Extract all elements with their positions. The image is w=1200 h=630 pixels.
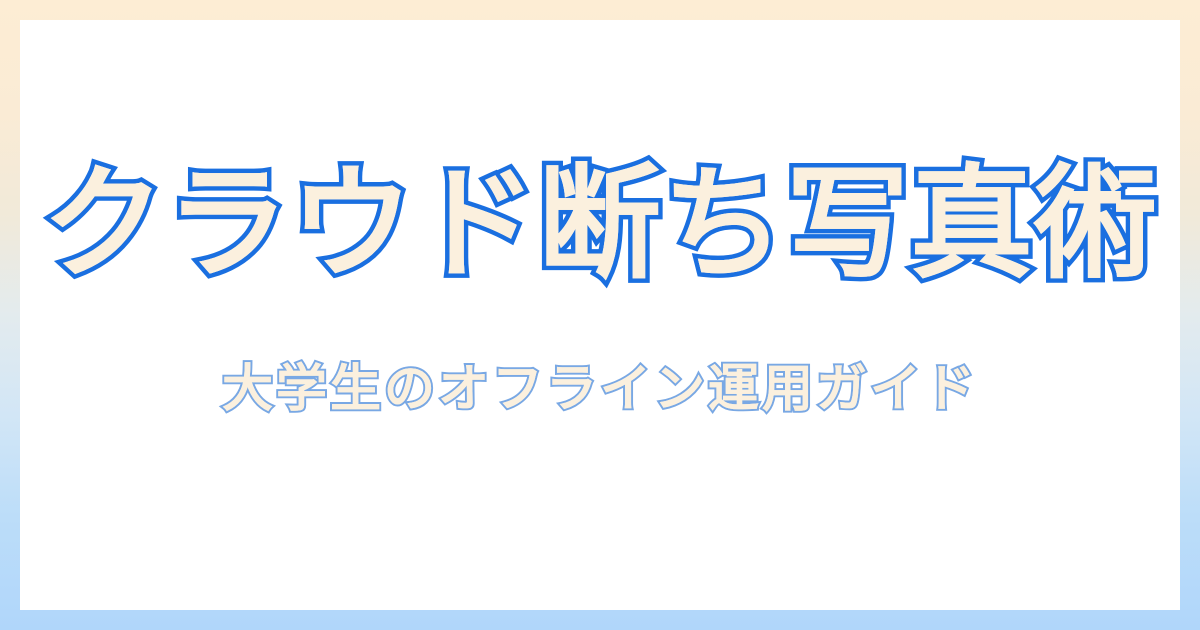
poster-subtitle-fill-layer: 大学生のオフライン運用ガイド	[20, 357, 1180, 423]
poster-title-fill-layer: クラウド断ち写真術	[20, 155, 1180, 295]
poster-inner-panel: クラウド断ち写真術 クラウド断ち写真術 大学生のオフライン運用ガイド 大学生のオ…	[20, 20, 1180, 610]
poster-subtitle: 大学生のオフライン運用ガイド 大学生のオフライン運用ガイド	[20, 357, 1180, 423]
poster-canvas: クラウド断ち写真術 クラウド断ち写真術 大学生のオフライン運用ガイド 大学生のオ…	[0, 0, 1200, 630]
poster-title: クラウド断ち写真術 クラウド断ち写真術	[20, 155, 1180, 295]
poster-text-stack: クラウド断ち写真術 クラウド断ち写真術 大学生のオフライン運用ガイド 大学生のオ…	[20, 155, 1180, 423]
